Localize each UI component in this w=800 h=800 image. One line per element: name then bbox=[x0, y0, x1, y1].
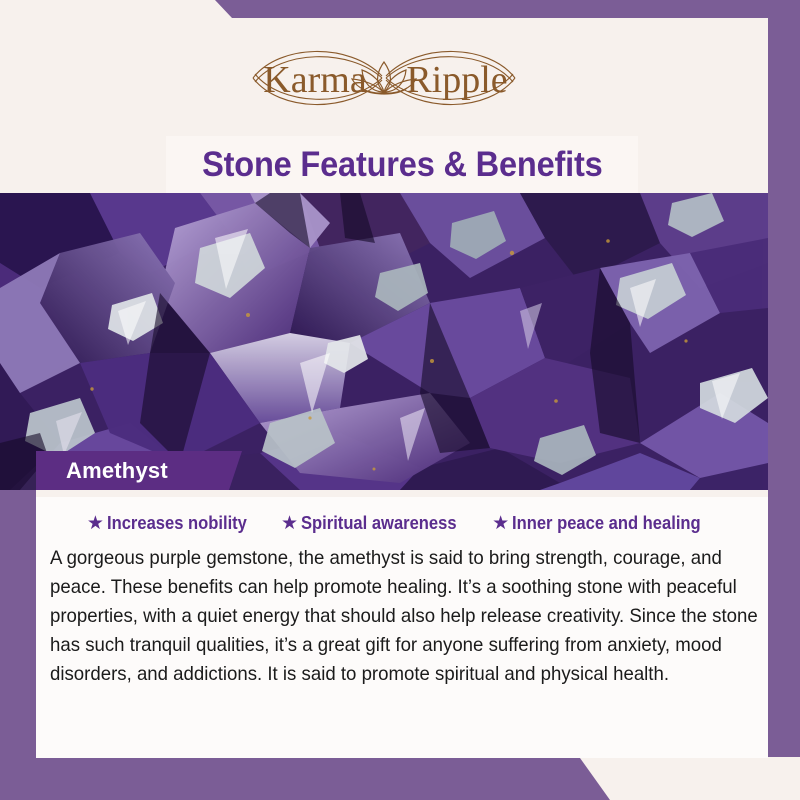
hero-image bbox=[0, 193, 768, 490]
frame-right-bar bbox=[768, 0, 800, 757]
benefit-item-1: ★ Increases nobility bbox=[87, 513, 259, 534]
amethyst-crystal-cluster-photo bbox=[0, 193, 768, 490]
frame-bottom-bar bbox=[0, 758, 640, 800]
page-title: Stone Features & Benefits bbox=[202, 145, 603, 185]
brand-name-left: Karma bbox=[263, 59, 367, 101]
content-panel: ★ Increases nobility ★ Spiritual awarene… bbox=[36, 497, 768, 758]
stone-name-banner: Amethyst bbox=[36, 451, 242, 490]
frame-left-bar bbox=[0, 490, 36, 800]
benefit-label-2: Spiritual awareness bbox=[301, 513, 457, 534]
benefit-label-1: Increases nobility bbox=[107, 513, 247, 534]
lotus-flower-icon: Karma Ripple bbox=[219, 36, 549, 120]
benefit-label-3: Inner peace and healing bbox=[512, 513, 701, 534]
frame-top-bar bbox=[0, 0, 800, 18]
star-icon: ★ bbox=[281, 514, 298, 533]
star-icon: ★ bbox=[492, 514, 509, 533]
benefit-item-2: ★ Spiritual awareness bbox=[281, 513, 470, 534]
brand-name-right: Ripple bbox=[406, 59, 507, 101]
page-title-plate: Stone Features & Benefits bbox=[166, 136, 638, 193]
benefit-item-3: ★ Inner peace and healing bbox=[492, 513, 717, 534]
brand-logo: Karma Ripple bbox=[0, 36, 768, 120]
stone-description: A gorgeous purple gemstone, the amethyst… bbox=[50, 544, 759, 689]
star-icon: ★ bbox=[87, 514, 104, 533]
infographic-page: Karma Ripple Stone Features & Benefits bbox=[0, 0, 800, 800]
stone-name-label: Amethyst bbox=[36, 458, 168, 484]
benefits-list: ★ Increases nobility ★ Spiritual awarene… bbox=[36, 497, 768, 534]
